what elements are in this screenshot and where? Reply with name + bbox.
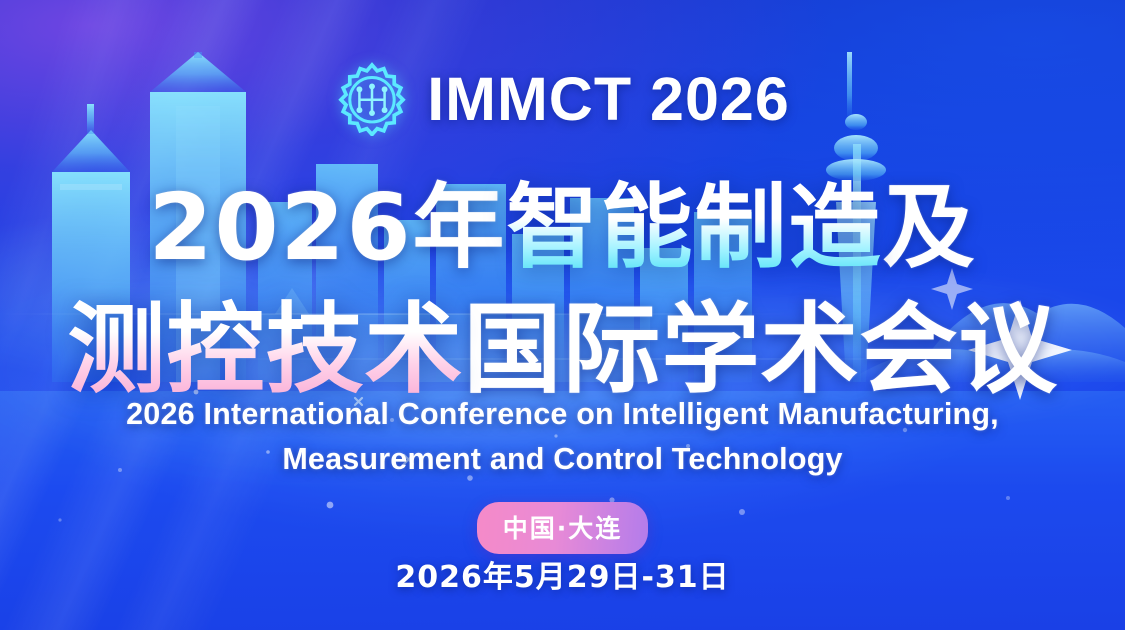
chinese-title-line-2: 测控技术国际学术会议 [0, 270, 1125, 412]
chinese-title-line-1: 2026年智能制造及 [0, 153, 1125, 286]
location-badge: 中国·大连 [477, 502, 649, 554]
cn-seg-year: 2026年 [148, 174, 506, 281]
conference-date: 2026年5月29日-31日 [0, 552, 1125, 596]
cn-seg-intl-conference: 国际学术会议 [464, 293, 1058, 407]
cn-seg-intelligent-manufacturing: 智能制造 [507, 174, 883, 281]
cn-seg-and: 及 [883, 174, 977, 281]
location-badge-wrapper: 中国·大连 [0, 502, 1125, 554]
english-subtitle-line-2: Measurement and Control Technology [0, 437, 1125, 482]
english-subtitle: 2026 International Conference on Intelli… [0, 392, 1125, 482]
gear-circuit-icon [335, 62, 409, 136]
brand-row: IMMCT 2026 [0, 62, 1125, 136]
conference-banner: IMMCT 2026 2026年智能制造及 测控技术国际学术会议 2026 In… [0, 0, 1125, 630]
english-subtitle-line-1: 2026 International Conference on Intelli… [126, 397, 999, 431]
brand-title: IMMCT 2026 [427, 64, 790, 134]
cn-seg-measurement-control: 测控技术 [67, 293, 463, 407]
